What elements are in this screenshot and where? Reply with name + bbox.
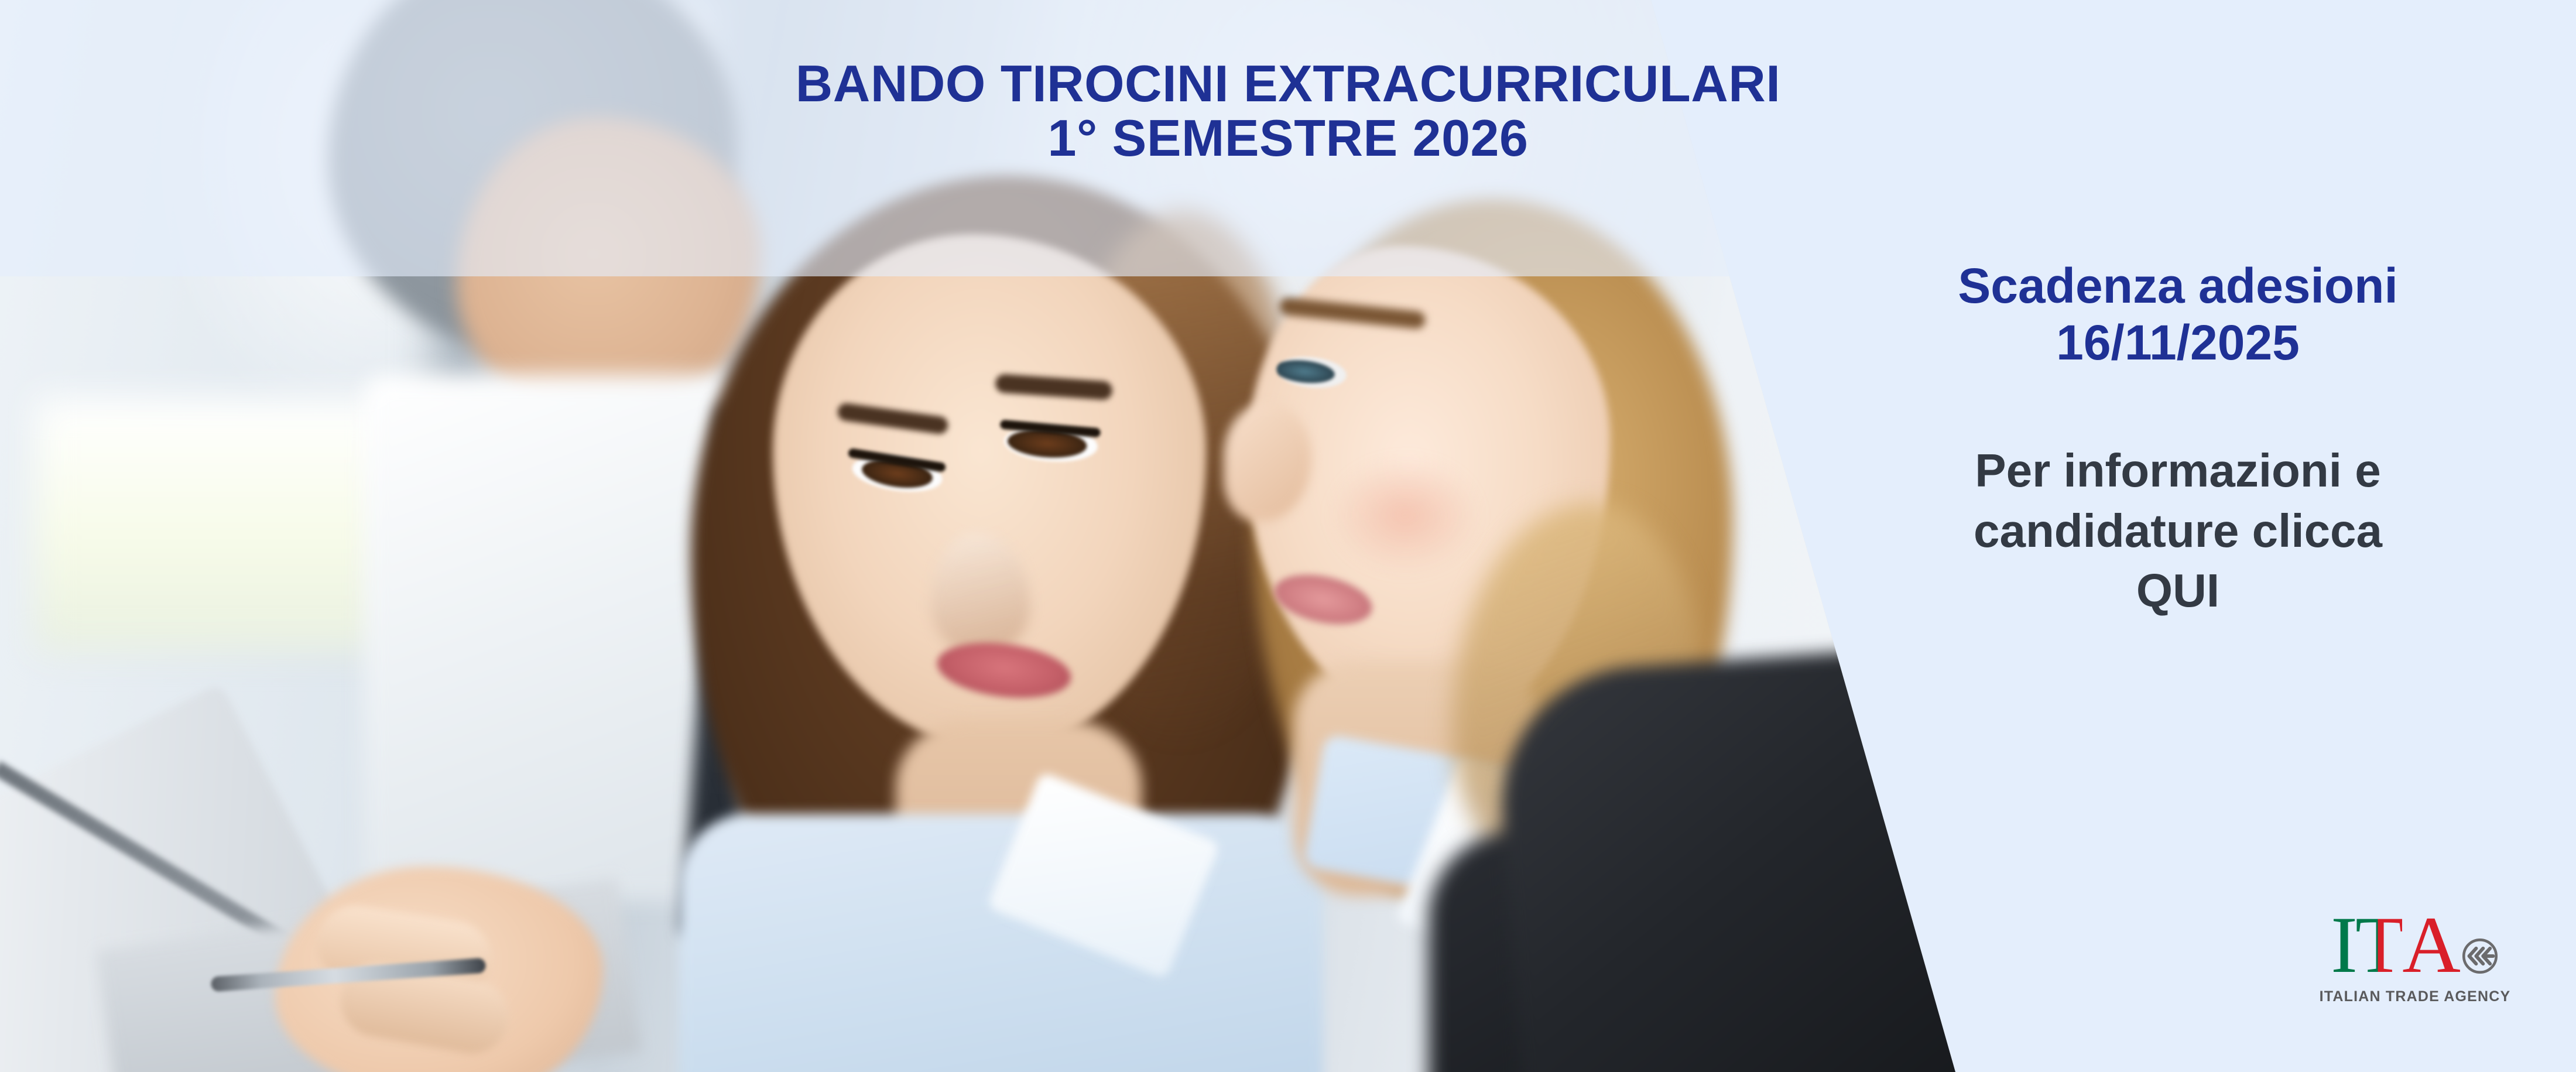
- deadline-date: 16/11/2025: [1791, 314, 2564, 371]
- title-line-1: BANDO TIROCINI EXTRACURRICULARI: [527, 56, 2049, 111]
- photo-window-glow: [35, 398, 398, 650]
- photo-woman2-cheek: [1329, 457, 1481, 574]
- deadline-label: Scadenza adesioni: [1791, 258, 2564, 314]
- cta-link-qui[interactable]: QUI: [1791, 561, 2564, 621]
- circled-arrow-icon: [2461, 910, 2499, 948]
- cta-block[interactable]: Per informazioni e candidature clicca QU…: [1791, 441, 2564, 621]
- deadline-block: Scadenza adesioni 16/11/2025: [1791, 258, 2564, 371]
- cta-line-2: candidature clicca: [1791, 501, 2564, 561]
- banner-title: BANDO TIROCINI EXTRACURRICULARI 1° SEMES…: [527, 56, 2049, 166]
- ita-logo-letter-t: T: [2355, 906, 2402, 984]
- title-line-2: 1° SEMESTRE 2026: [527, 111, 2049, 165]
- ita-logo-letters: I T A: [2301, 906, 2529, 984]
- photo-woman2-jacket: [1493, 636, 1991, 1072]
- ita-logo-tagline: ITALIAN TRADE AGENCY: [2301, 988, 2529, 1005]
- ita-logo-letter-a: A: [2402, 906, 2458, 984]
- info-panel: Scadenza adesioni 16/11/2025 Per informa…: [1791, 258, 2564, 621]
- promotional-banner: BANDO TIROCINI EXTRACURRICULARI 1° SEMES…: [0, 0, 2576, 1072]
- photo-woman1-shirt: [679, 814, 1323, 1072]
- ita-logo-letter-i: I: [2331, 906, 2355, 984]
- ita-logo: I T A ITALIAN TRADE AGENCY: [2301, 906, 2529, 1005]
- cta-line-1: Per informazioni e: [1791, 441, 2564, 501]
